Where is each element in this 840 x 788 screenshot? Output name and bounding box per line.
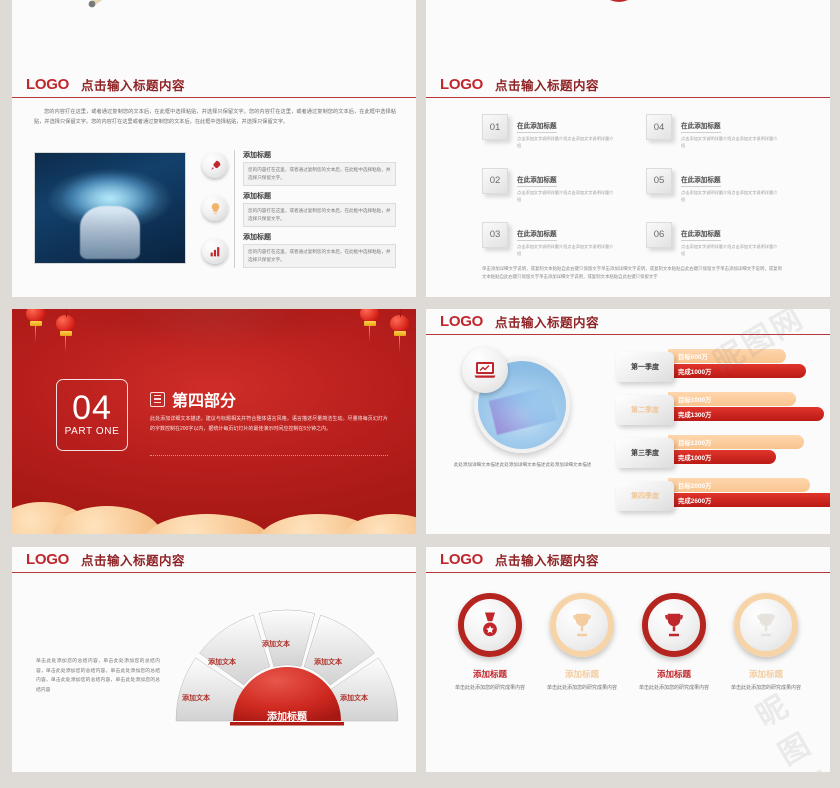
number-chip: 03	[482, 222, 508, 248]
slide1-icon-column	[198, 152, 232, 264]
section-title: 第四部分	[172, 387, 236, 411]
list-item-desc: 点击添加文字说明详量介绍点击添加文字说明详量介绍	[517, 190, 617, 204]
cloud-decoration	[12, 478, 416, 534]
slide1-item-2-title: 添加标题	[243, 191, 396, 201]
award-desc: 单击此处添加您的研究成果内容	[448, 684, 532, 693]
quarter-row[interactable]: 第三季度 目标1200万 完成1000万	[616, 435, 816, 473]
number-chip: 01	[482, 114, 508, 140]
section-part-label: PART ONE	[65, 426, 120, 437]
goal-bar: 目标600万	[668, 349, 786, 363]
slide4-header: LOGO 点击输入标题内容	[426, 309, 830, 335]
number-chip: 04	[646, 114, 672, 140]
list-item-title: 在此添加标题	[681, 120, 721, 133]
award-title: 添加标题	[724, 668, 808, 680]
lantern-icon	[56, 315, 75, 352]
slide1-item-1-title: 添加标题	[243, 150, 396, 160]
award-desc: 单击此处添加您的研究成果内容	[632, 684, 716, 693]
slide-thumbnail-5-fan[interactable]: LOGO 点击输入标题内容 单击此处添加您的总结内容，单击此处添加您的总结内容，…	[12, 547, 416, 772]
quarter-row[interactable]: 第二季度 目标1000万 完成1300万	[616, 392, 816, 430]
slide-thumbnail-6-awards[interactable]: LOGO 点击输入标题内容 添加标题 单击此处添加您的研究成果内容	[426, 547, 830, 772]
award-title: 添加标题	[632, 668, 716, 680]
rocket-icon	[202, 152, 228, 178]
fan-segment-label-3[interactable]: 添加文本	[262, 639, 290, 649]
slide1-header: LOGO 点击输入标题内容	[12, 72, 416, 98]
slide6-header: LOGO 点击输入标题内容	[426, 547, 830, 573]
fan-center-label[interactable]: 添加标题	[267, 708, 307, 723]
goal-bar: 目标2000万	[668, 478, 810, 492]
award-item-4[interactable]: 添加标题 单击此处添加您的研究成果内容	[724, 593, 808, 693]
fan-segment-label-4[interactable]: 添加文本	[314, 657, 342, 667]
slide-thumbnail-1[interactable]: LOGO 点击输入标题内容 您的内容打在这里，或者通过复制您的文本后，在此框中选…	[12, 72, 416, 297]
slide1-paragraph: 您的内容打在这里，或者通过复制您的文本后，在此框中选择粘贴，并选择只保留文字。您…	[34, 108, 396, 127]
slide6-title: 点击输入标题内容	[495, 550, 599, 569]
bar-chart-icon	[202, 238, 228, 264]
lantern-icon	[360, 309, 379, 342]
award-item-1[interactable]: 添加标题 单击此处添加您的研究成果内容	[448, 593, 532, 693]
slide1-item-3[interactable]: 添加标题 您的内容打在这里，或者通过复制您的文本后，在此框中选择粘贴，并选择只保…	[243, 232, 396, 268]
award-item-3[interactable]: 添加标题 单击此处添加您的研究成果内容	[632, 593, 716, 693]
megaphone-circle-icon	[598, 0, 640, 2]
quarter-label: 第三季度	[616, 438, 674, 468]
award-desc: 单击此处添加您的研究成果内容	[724, 684, 808, 693]
lightbulb-icon	[202, 195, 228, 221]
section-number-badge: 04 PART ONE	[56, 379, 128, 451]
list-item-title: 在此添加标题	[517, 174, 557, 187]
slide-thumbnail-2[interactable]: LOGO 点击输入标题内容 01 在此添加标题 点击添加文字说明详量介绍点击添加…	[426, 72, 830, 297]
slide1-image	[34, 152, 186, 264]
slide-thumbnail-3-section-cover[interactable]: 04 PART ONE 第四部分 此处添加详细文本描述，建议与标题相关并符合整体…	[12, 309, 416, 534]
slide1-item-2-desc: 您的内容打在这里，或者通过复制您的文本后，在此框中选择粘贴，并选择只保留文字。	[243, 203, 396, 227]
list-item[interactable]: 01 在此添加标题 点击添加文字说明详量介绍点击添加文字说明详量介绍	[482, 114, 618, 150]
logo-text: LOGO	[26, 551, 69, 568]
fan-segment-label-2[interactable]: 添加文本	[208, 657, 236, 667]
awards-row: 添加标题 单击此处添加您的研究成果内容 添加标题 单击此处添加您的研究成果内容	[444, 593, 812, 693]
lantern-icon	[26, 309, 45, 342]
trophy-icon	[642, 593, 706, 657]
number-chip: 06	[646, 222, 672, 248]
goal-bar: 目标1200万	[668, 435, 804, 449]
slide5-summary-text: 单击此处添加您的总结内容，单击此处添加您的总结内容，单击此处添加您的总结内容，单…	[36, 657, 160, 695]
trophy-icon	[550, 593, 614, 657]
quarter-label: 第一季度	[616, 352, 674, 382]
slide2-footer-text: 单击添加详细文字说明，或复制文本粘贴自此右键只保留文字单击添加详细文字说明，或复…	[482, 265, 782, 281]
section-title-row: 第四部分	[150, 387, 236, 411]
quarter-row[interactable]: 第一季度 目标600万 完成1000万	[616, 349, 816, 387]
fan-segment-label-1[interactable]: 添加文本	[182, 693, 210, 703]
list-item[interactable]: 06 在此添加标题 点击添加文字说明详量介绍点击添加文字说明详量介绍	[646, 222, 782, 258]
slide2-header: LOGO 点击输入标题内容	[426, 72, 830, 98]
list-item-desc: 点击添加文字说明详量介绍点击添加文字说明详量介绍	[517, 244, 617, 258]
goal-bar: 目标1000万	[668, 392, 796, 406]
list-item[interactable]: 05 在此添加标题 点击添加文字说明详量介绍点击添加文字说明详量介绍	[646, 168, 782, 204]
list-item[interactable]: 04 在此添加标题 点击添加文字说明详量介绍点击添加文字说明详量介绍	[646, 114, 782, 150]
slide2-number-grid: 01 在此添加标题 点击添加文字说明详量介绍点击添加文字说明详量介绍 04 在此…	[482, 114, 782, 258]
list-item[interactable]: 03 在此添加标题 点击添加文字说明详量介绍点击添加文字说明详量介绍	[482, 222, 618, 258]
logo-text: LOGO	[440, 76, 483, 93]
done-bar: 完成1300万	[668, 407, 824, 421]
done-bar: 完成1000万	[668, 364, 806, 378]
slide1-text-column: 添加标题 您的内容打在这里，或者通过复制您的文本后，在此框中选择粘贴，并选择只保…	[234, 150, 396, 268]
list-item-desc: 点击添加文字说明详量介绍点击添加文字说明详量介绍	[681, 136, 781, 150]
list-item[interactable]: 02 在此添加标题 点击添加文字说明详量介绍点击添加文字说明详量介绍	[482, 168, 618, 204]
slide1-item-1[interactable]: 添加标题 您的内容打在这里，或者通过复制您的文本后，在此框中选择粘贴，并选择只保…	[243, 150, 396, 186]
fan-segment-label-5[interactable]: 添加文本	[340, 693, 368, 703]
list-item-title: 在此添加标题	[517, 228, 557, 241]
quarter-label: 第四季度	[616, 481, 674, 511]
slide1-item-1-desc: 您的内容打在这里，或者通过复制您的文本后，在此框中选择粘贴，并选择只保留文字。	[243, 162, 396, 186]
slide4-caption: 此处添加详细文本描述此处添加详细文本描述此处添加详细文本描述	[450, 461, 595, 469]
slide1-title: 点击输入标题内容	[81, 75, 185, 94]
done-bar: 完成1000万	[668, 450, 776, 464]
list-item-title: 在此添加标题	[517, 120, 557, 133]
quarter-label: 第二季度	[616, 395, 674, 425]
done-bar: 完成2600万	[668, 493, 830, 507]
trophy-icon	[734, 593, 798, 657]
slide5-header: LOGO 点击输入标题内容	[12, 547, 416, 573]
list-item-desc: 点击添加文字说明详量介绍点击添加文字说明详量介绍	[681, 244, 781, 258]
slide1-item-2[interactable]: 添加标题 您的内容打在这里，或者通过复制您的文本后，在此框中选择粘贴，并选择只保…	[243, 191, 396, 227]
slide1-item-3-title: 添加标题	[243, 232, 396, 242]
slide-thumbnail-4-quarters[interactable]: LOGO 点击输入标题内容 此处添加详细文本描述此处添加详细文本描述此处添加详细…	[426, 309, 830, 534]
number-chip: 02	[482, 168, 508, 194]
template-preview-page: 添加标题 点击添加文字说明详量介绍 点击添加文字说明详量介绍 单击添加标题 单击…	[0, 0, 840, 788]
fan-diagram: 添加文本 添加文本 添加文本 添加文本 添加文本 添加标题	[170, 599, 404, 739]
section-description: 此处添加详细文本描述，建议与标题相关并符合整体语言风格，语言描述尽量简洁生动。尽…	[150, 415, 388, 435]
award-desc: 单击此处添加您的研究成果内容	[540, 684, 624, 693]
logo-text: LOGO	[440, 313, 483, 330]
quarter-bar-chart: 第一季度 目标600万 完成1000万 第二季度 目标1000万 完成1300万…	[616, 349, 816, 521]
quarter-row[interactable]: 第四季度 目标2000万 完成2600万	[616, 478, 816, 516]
lantern-icon	[390, 315, 409, 352]
laptop-chart-icon	[462, 347, 508, 393]
list-lines-icon	[150, 392, 165, 407]
logo-text: LOGO	[440, 551, 483, 568]
award-item-2[interactable]: 添加标题 单击此处添加您的研究成果内容	[540, 593, 624, 693]
award-title: 添加标题	[448, 668, 532, 680]
slide5-title: 点击输入标题内容	[81, 550, 185, 569]
section-divider	[150, 455, 388, 456]
list-item-title: 在此添加标题	[681, 174, 721, 187]
slide2-title: 点击输入标题内容	[495, 75, 599, 94]
slide4-title: 点击输入标题内容	[495, 312, 599, 331]
list-item-desc: 点击添加文字说明详量介绍点击添加文字说明详量介绍	[681, 190, 781, 204]
list-item-title: 在此添加标题	[681, 228, 721, 241]
section-number: 04	[72, 393, 112, 424]
logo-text: LOGO	[26, 76, 69, 93]
line-chart-graphic	[72, 0, 262, 10]
award-title: 添加标题	[540, 668, 624, 680]
slide1-item-3-desc: 您的内容打在这里，或者通过复制您的文本后，在此框中选择粘贴，并选择只保留文字。	[243, 244, 396, 268]
medal-icon	[458, 593, 522, 657]
list-item-desc: 点击添加文字说明详量介绍点击添加文字说明详量介绍	[517, 136, 617, 150]
number-chip: 05	[646, 168, 672, 194]
